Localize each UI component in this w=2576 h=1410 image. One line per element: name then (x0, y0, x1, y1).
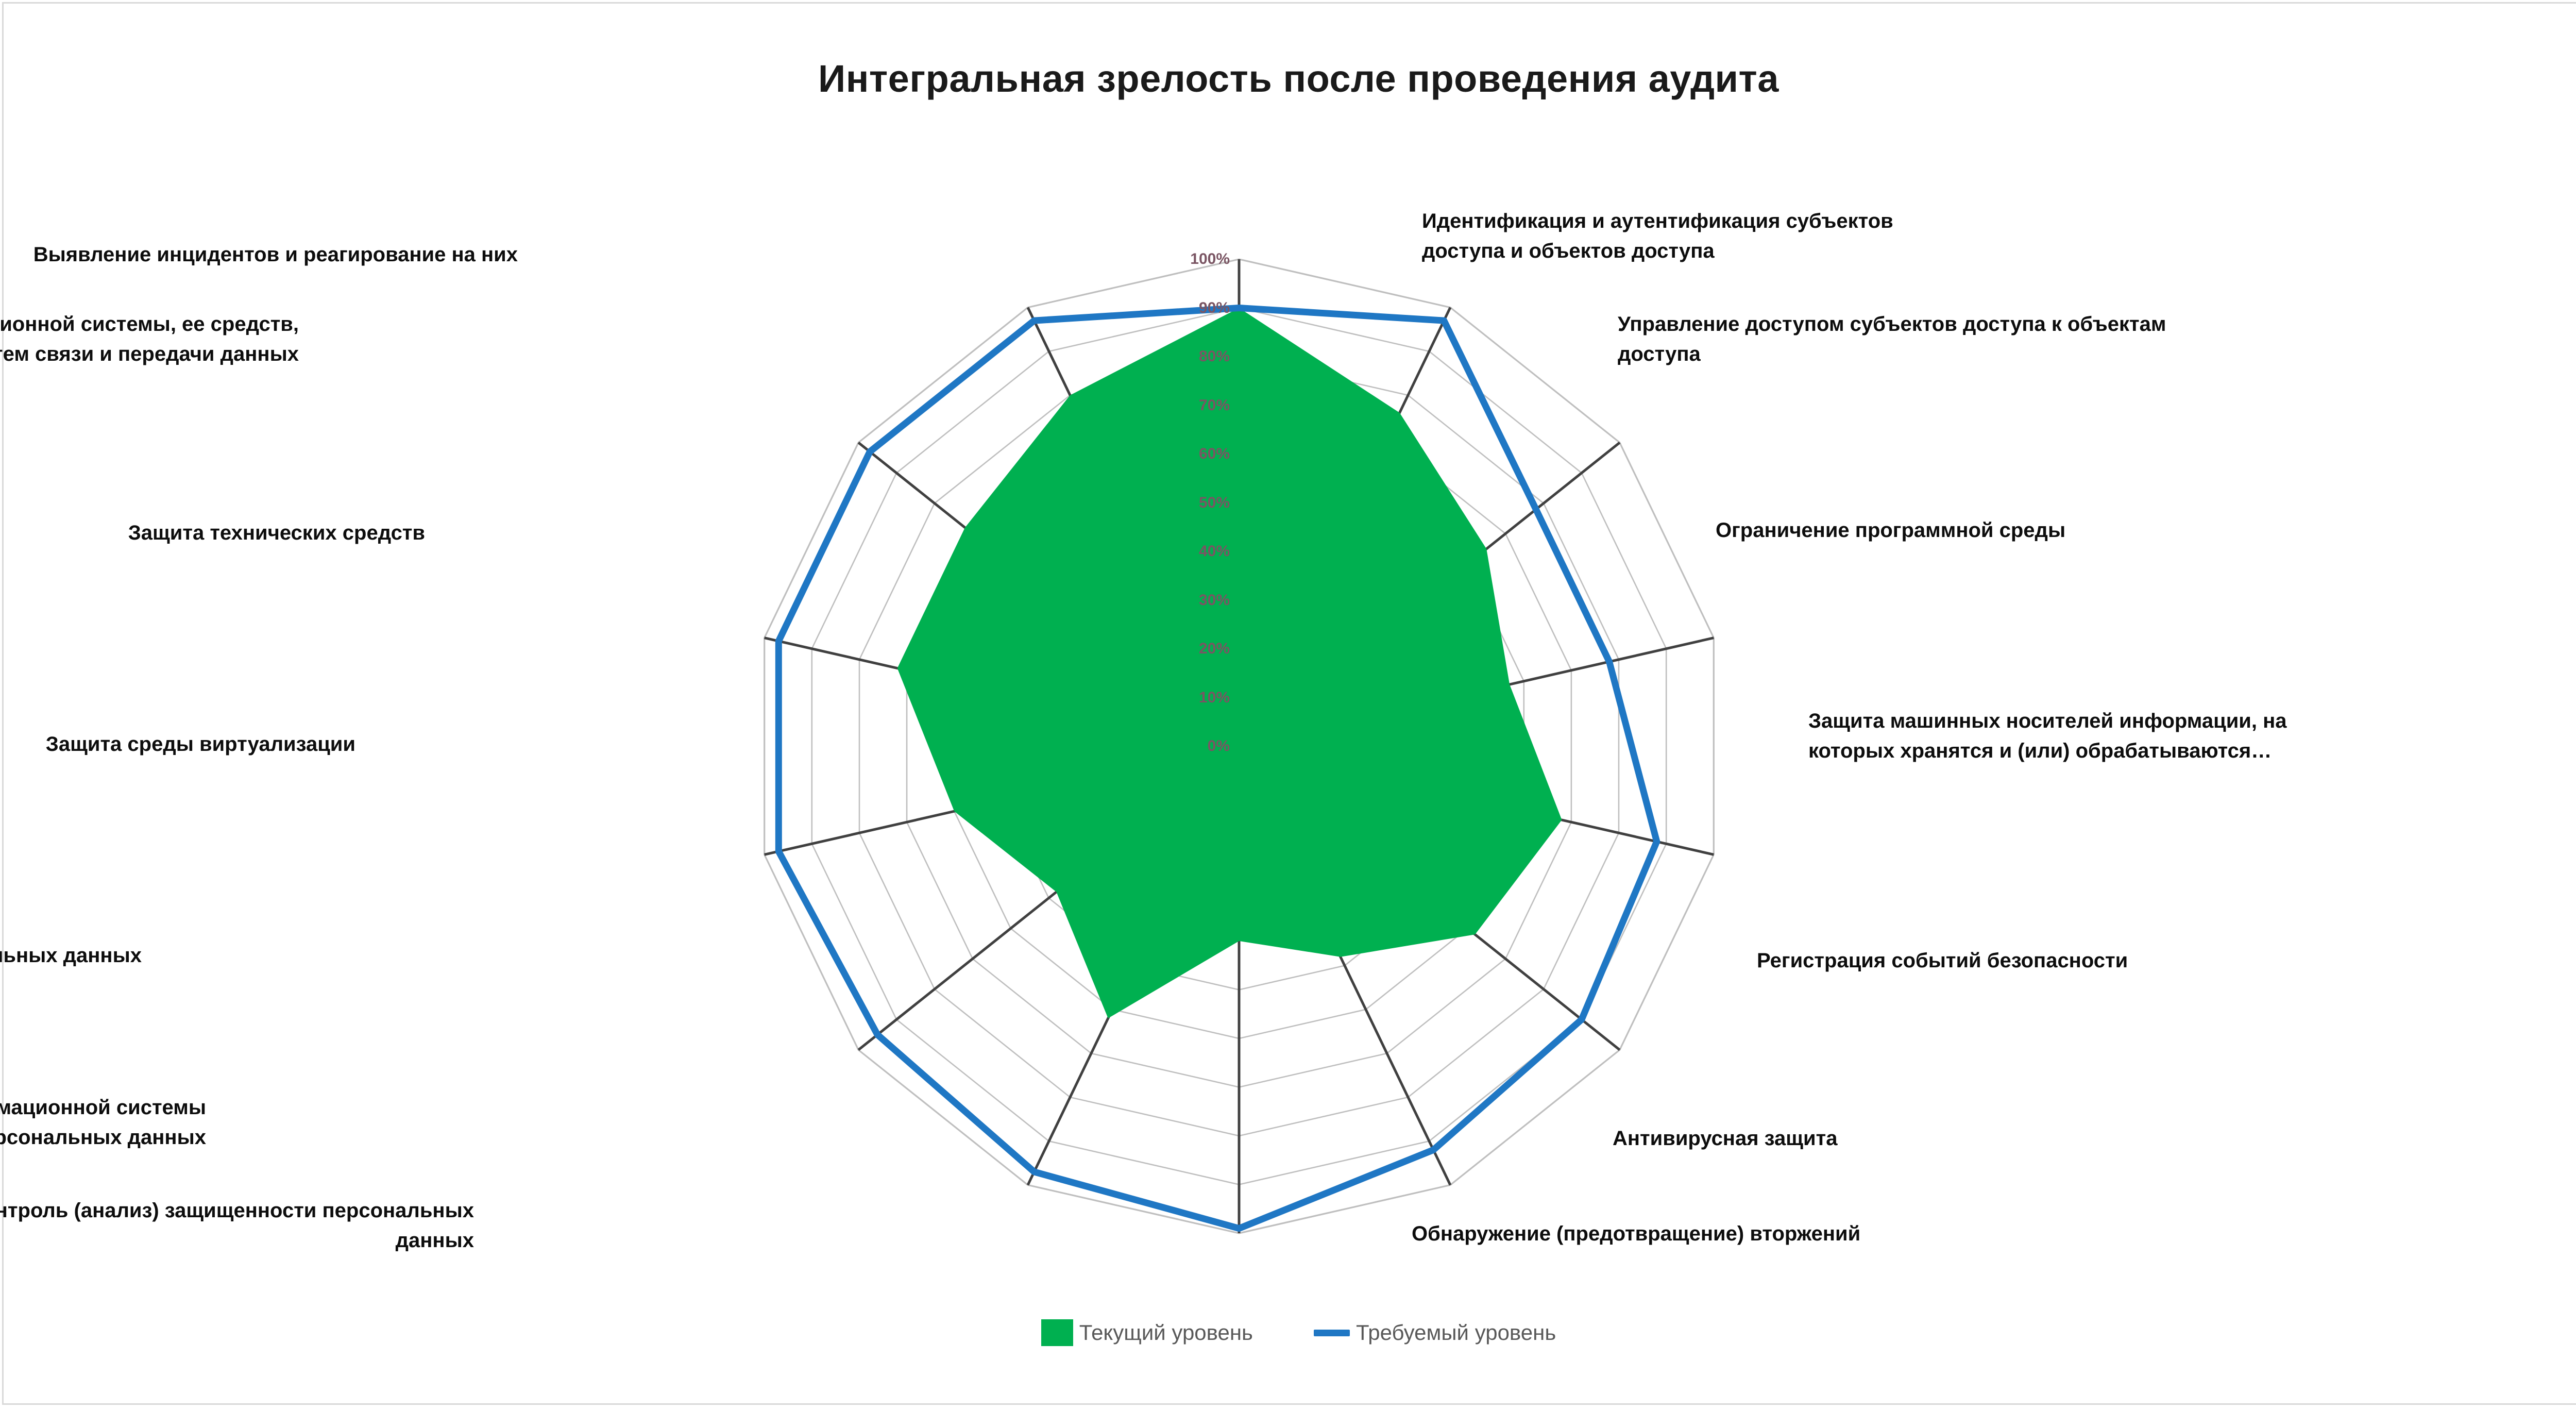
category-label-line: Ограничение программной среды (1716, 515, 2282, 545)
radial-tick-80%: 80% (1199, 348, 1230, 365)
legend-item-current-level[interactable]: Текущий уровень (1041, 1319, 1253, 1346)
radial-tick-0%: 0% (1208, 737, 1230, 755)
radial-tick-30%: 30% (1199, 592, 1230, 609)
category-label-line: Контроль (анализ) защищенности персональ… (0, 1196, 474, 1226)
category-label-line: Выявление инцидентов и реагирование на н… (0, 240, 518, 270)
category-label-line: Регистрация событий безопасности (1757, 946, 2349, 976)
category-label-1: Управление доступом субъектов доступа к … (1618, 309, 2421, 369)
category-label-5: Антивирусная защита (1613, 1123, 2004, 1153)
radial-tick-60%: 60% (1199, 445, 1230, 463)
category-label-10: Защита среды виртуализации (0, 729, 355, 759)
category-label-line: Защита информационной системы, ее средст… (0, 309, 299, 339)
category-label-line: Обнаружение (предотвращение) вторжений (1412, 1219, 2107, 1249)
category-label-7: Контроль (анализ) защищенности персональ… (0, 1196, 474, 1255)
category-label-line: Управление доступом субъектов доступа к … (1618, 309, 2421, 339)
category-label-line: которых хранятся и (или) обрабатываются… (1808, 736, 2478, 766)
radial-tick-100%: 100% (1190, 250, 1230, 268)
category-label-line: доступа (1618, 339, 2421, 369)
radial-tick-10%: 10% (1199, 689, 1230, 707)
legend-item-required-level[interactable]: Требуемый уровень (1314, 1320, 1556, 1345)
series-current-level-area (897, 308, 1562, 1018)
category-label-12: Защита информационной системы, ее средст… (0, 309, 299, 369)
radial-tick-40%: 40% (1199, 543, 1230, 560)
chart-legend: Текущий уровень Требуемый уровень (0, 1319, 2576, 1346)
radial-tick-20%: 20% (1199, 640, 1230, 658)
category-label-line: Защита технических средств (0, 518, 425, 548)
category-label-line: доступа и объектов доступа (1422, 236, 2143, 266)
category-label-4: Регистрация событий безопасности (1757, 946, 2349, 976)
radar-plot-area: 0%10%20%30%40%50%60%70%80%90%100% Иденти… (0, 0, 2576, 1410)
category-label-line: Защита среды виртуализации (0, 729, 355, 759)
category-label-9: Обеспечение доступности персональных дан… (0, 941, 142, 970)
radial-tick-70%: 70% (1199, 397, 1230, 414)
category-label-0: Идентификация и аутентификация субъектов… (1422, 206, 2143, 266)
legend-label-required-level: Требуемый уровень (1356, 1320, 1556, 1345)
category-label-line: Обеспечение целостности информационной с… (0, 1093, 206, 1122)
category-label-6: Обнаружение (предотвращение) вторжений (1412, 1219, 2107, 1249)
category-label-11: Защита технических средств (0, 518, 425, 548)
legend-swatch-required-level (1314, 1330, 1350, 1336)
radial-tick-50%: 50% (1199, 494, 1230, 512)
category-label-line: систем связи и передачи данных (0, 339, 299, 369)
category-label-line: Обеспечение доступности персональных дан… (0, 941, 142, 970)
category-label-line: Идентификация и аутентификация субъектов (1422, 206, 2143, 236)
category-label-line: данных (0, 1226, 474, 1255)
category-label-line: Антивирусная защита (1613, 1123, 2004, 1153)
category-label-13: Выявление инцидентов и реагирование на н… (0, 240, 518, 270)
category-label-line: и персональных данных (0, 1122, 206, 1152)
category-label-2: Ограничение программной среды (1716, 515, 2282, 545)
category-label-8: Обеспечение целостности информационной с… (0, 1093, 206, 1152)
legend-label-current-level: Текущий уровень (1079, 1320, 1253, 1345)
category-label-line: Защита машинных носителей информации, на (1808, 706, 2478, 736)
category-label-3: Защита машинных носителей информации, на… (1808, 706, 2478, 766)
radial-tick-90%: 90% (1199, 299, 1230, 317)
legend-swatch-current-level (1041, 1319, 1073, 1346)
current-level-polygon (897, 308, 1562, 1018)
